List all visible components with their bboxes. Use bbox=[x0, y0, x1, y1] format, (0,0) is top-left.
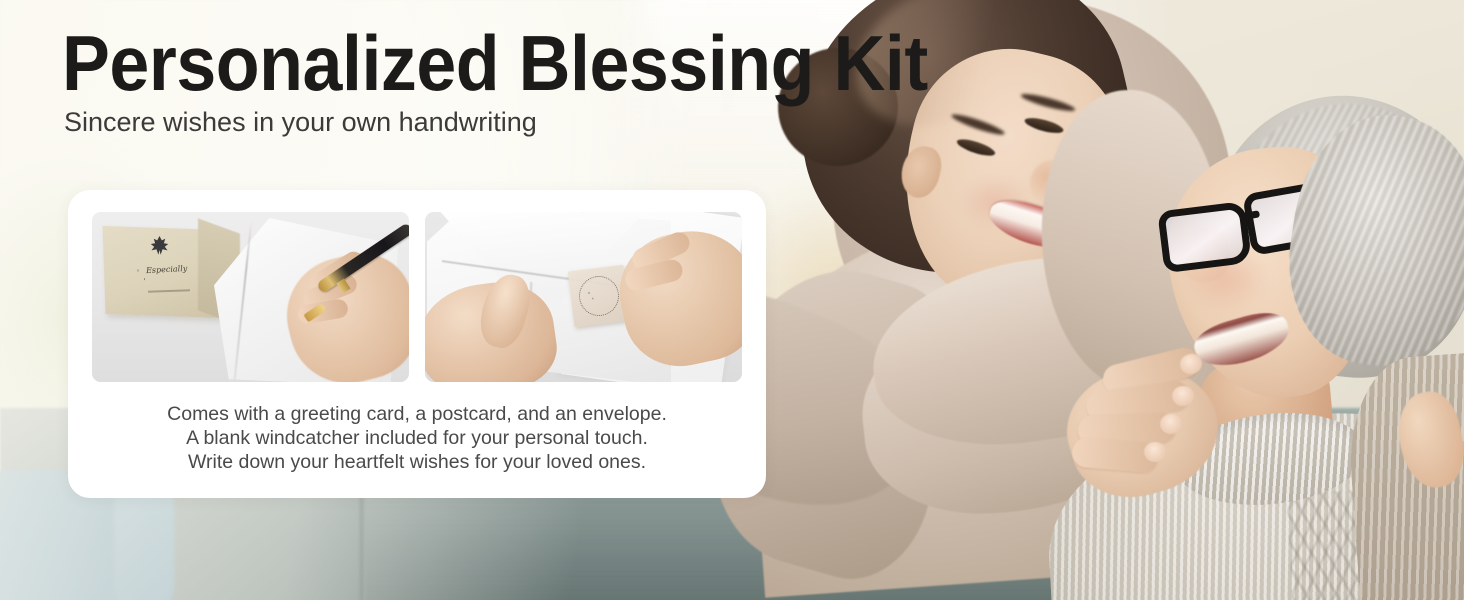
writing-greeting-card-photo[interactable]: Especially bbox=[92, 212, 409, 382]
feature-caption: Comes with a greeting card, a postcard, … bbox=[68, 402, 766, 474]
fingernail bbox=[1144, 442, 1166, 462]
caption-line-1: Comes with a greeting card, a postcard, … bbox=[68, 402, 766, 426]
page-subtitle: Sincere wishes in your own handwriting bbox=[64, 106, 537, 138]
caption-line-2: A blank windcatcher included for your pe… bbox=[68, 426, 766, 450]
card-script-text: Especially bbox=[135, 262, 198, 289]
hand bbox=[1084, 595, 1239, 600]
seal-script-mark bbox=[586, 287, 612, 304]
glasses-lens bbox=[1157, 201, 1252, 273]
hand-on-shoulder bbox=[1068, 352, 1248, 502]
page-title: Personalized Blessing Kit bbox=[62, 24, 928, 102]
fingernail bbox=[1172, 386, 1194, 406]
fingernail bbox=[1160, 414, 1182, 434]
caption-line-3: Write down your heartfelt wishes for you… bbox=[68, 450, 766, 474]
feature-card: Especially bbox=[68, 190, 766, 498]
product-photo-gallery: Especially bbox=[92, 212, 742, 382]
sealing-envelope-photo[interactable] bbox=[425, 212, 742, 382]
older-woman-hands bbox=[1092, 596, 1372, 600]
